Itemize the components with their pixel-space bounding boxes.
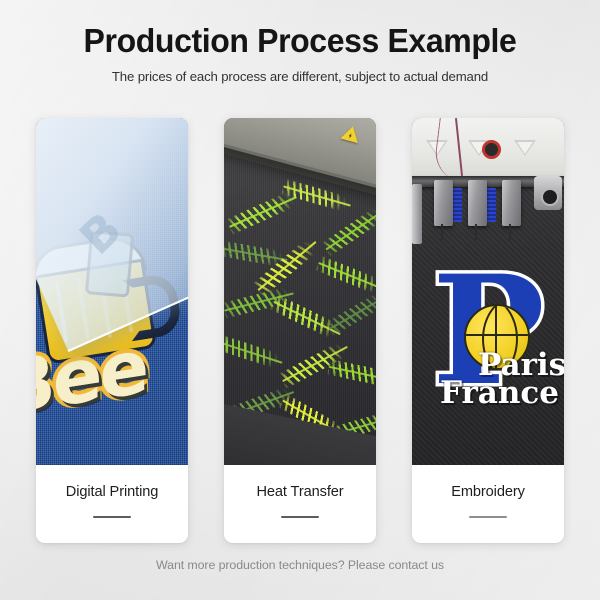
needle-marker-1-icon	[514, 140, 536, 156]
embroidery-caption: Embroidery	[412, 465, 564, 543]
heat-transfer-photo	[224, 118, 376, 465]
card-label: Heat Transfer	[256, 483, 343, 501]
card-label: Embroidery	[451, 483, 525, 501]
needle-bar	[502, 180, 521, 226]
palm-leaf-icon	[325, 288, 376, 336]
footer-contact-text[interactable]: Want more production techniques? Please …	[0, 558, 600, 572]
digital-printing-photo: Bee B	[36, 118, 188, 465]
embroidery-photo: P Paris France	[412, 118, 564, 465]
promo-page: Production Process Example The prices of…	[0, 0, 600, 600]
page-header: Production Process Example The prices of…	[0, 22, 600, 85]
embroidery-machine-head	[412, 118, 564, 181]
palm-leaf-icon	[224, 334, 285, 371]
page-subtitle: The prices of each process are different…	[0, 69, 600, 85]
card-divider-rule	[281, 516, 319, 518]
needle-bar	[468, 180, 487, 226]
hoop-clamp	[412, 184, 422, 244]
process-card-digital-printing[interactable]: Bee B Digital Printing	[36, 118, 188, 543]
card-divider-rule	[93, 516, 131, 518]
thread-roller	[534, 176, 562, 210]
palm-leaf-icon	[316, 255, 376, 296]
page-title: Production Process Example	[9, 22, 591, 60]
process-card-embroidery[interactable]: P Paris France Embroidery	[412, 118, 564, 543]
card-label: Digital Printing	[66, 483, 159, 501]
logo-text-france: France	[440, 378, 559, 409]
needle-bar	[434, 180, 453, 226]
palm-leaf-icon	[327, 359, 376, 389]
paris-france-logo: P Paris France	[426, 268, 556, 433]
card-divider-rule	[469, 516, 507, 518]
process-card-list: Bee B Digital Printing	[36, 118, 564, 543]
heat-transfer-caption: Heat Transfer	[224, 465, 376, 543]
film-watermark: B	[69, 203, 130, 265]
beer-wordmark: Bee	[36, 329, 147, 427]
process-card-heat-transfer[interactable]: Heat Transfer	[224, 118, 376, 543]
digital-printing-caption: Digital Printing	[36, 465, 188, 543]
